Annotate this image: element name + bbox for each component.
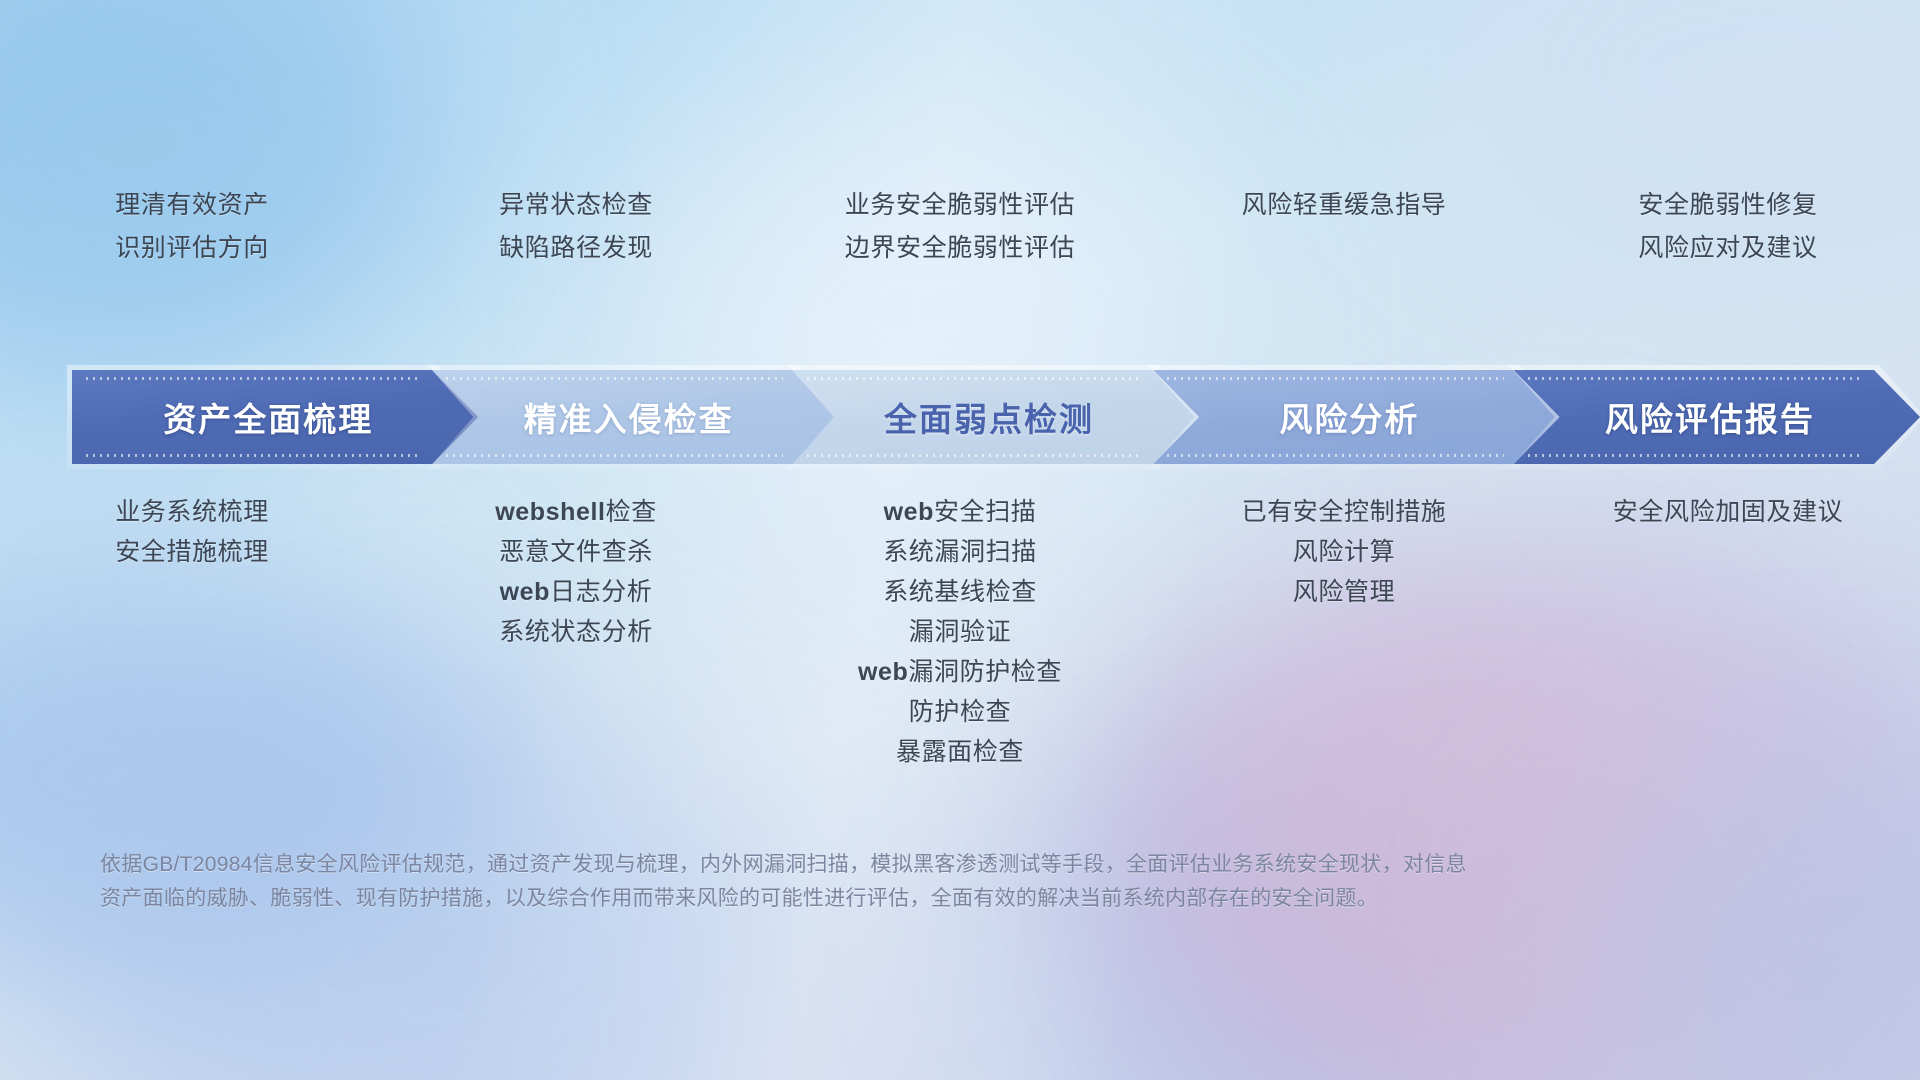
top-label: 异常状态检查 <box>384 184 768 227</box>
list-item: 系统基线检查 <box>768 572 1152 612</box>
stage-chevron-3[interactable]: 全面弱点检测 <box>793 370 1199 464</box>
list-item: 漏洞验证 <box>768 612 1152 652</box>
chevron-dotted-line-bottom <box>807 454 1143 457</box>
list-item-prefix: web <box>884 498 934 526</box>
footer-line-2: 资产面临的威胁、脆弱性、现有防护措施，以及综合作用而带来风险的可能性进行评估，全… <box>100 882 1800 916</box>
list-item: web日志分析 <box>384 572 768 612</box>
top-label: 风险轻重缓急指导 <box>1152 184 1536 227</box>
top-labels-row: 理清有效资产识别评估方向异常状态检查缺陷路径发现业务安全脆弱性评估边界安全脆弱性… <box>0 184 1920 270</box>
bottom-list-group: 安全风险加固及建议 <box>1536 492 1920 532</box>
chevron-dotted-line-bottom <box>1528 454 1864 457</box>
list-item: 恶意文件查杀 <box>384 532 768 572</box>
list-item: 业务系统梳理 <box>0 492 384 532</box>
list-item-prefix: web <box>858 658 908 686</box>
list-item-prefix: web <box>500 578 550 606</box>
list-item: webshell检查 <box>384 492 768 532</box>
top-label: 理清有效资产 <box>0 184 384 227</box>
footer-description: 依据GB/T20984信息安全风险评估规范，通过资产发现与梳理，内外网漏洞扫描，… <box>100 848 1800 916</box>
top-label-group: 理清有效资产识别评估方向 <box>0 184 384 270</box>
list-item: 系统状态分析 <box>384 612 768 652</box>
chevron-dotted-line-top <box>807 377 1143 380</box>
footer-line-1: 依据GB/T20984信息安全风险评估规范，通过资产发现与梳理，内外网漏洞扫描，… <box>100 848 1800 882</box>
bottom-lists-row: 业务系统梳理安全措施梳理webshell检查恶意文件查杀web日志分析系统状态分… <box>0 492 1920 772</box>
stage-chevron-2[interactable]: 精准入侵检查 <box>432 370 838 464</box>
bottom-list-group: 已有安全控制措施风险计算风险管理 <box>1152 492 1536 612</box>
process-diagram: 理清有效资产识别评估方向异常状态检查缺陷路径发现业务安全脆弱性评估边界安全脆弱性… <box>0 0 1920 1080</box>
list-item-text: 安全扫描 <box>934 498 1036 526</box>
chevron-dotted-line-bottom <box>446 454 782 457</box>
stage-chevron-1[interactable]: 资产全面梳理 <box>72 370 478 464</box>
top-label-group: 异常状态检查缺陷路径发现 <box>384 184 768 270</box>
stage-label: 风险分析 <box>1279 393 1419 441</box>
chevron-dotted-line-top <box>446 377 782 380</box>
stage-label: 资产全面梳理 <box>163 393 373 441</box>
top-label: 安全脆弱性修复 <box>1536 184 1920 227</box>
list-item: 已有安全控制措施 <box>1152 492 1536 532</box>
chevron-dotted-line-top <box>1528 377 1864 380</box>
chevron-dotted-line-bottom <box>86 454 422 457</box>
top-label-group: 安全脆弱性修复风险应对及建议 <box>1536 184 1920 270</box>
bottom-list-group: 业务系统梳理安全措施梳理 <box>0 492 384 572</box>
list-item: 安全风险加固及建议 <box>1536 492 1920 532</box>
stage-chevron-band: 资产全面梳理精准入侵检查全面弱点检测风险分析风险评估报告 <box>72 370 1920 464</box>
chevron-dotted-line-top <box>86 377 422 380</box>
list-item-text: 日志分析 <box>550 578 652 606</box>
list-item: web安全扫描 <box>768 492 1152 532</box>
list-item: web漏洞防护检查 <box>768 652 1152 692</box>
bottom-list-group: web安全扫描系统漏洞扫描系统基线检查漏洞验证web漏洞防护检查防护检查暴露面检… <box>768 492 1152 772</box>
top-label: 识别评估方向 <box>0 227 384 270</box>
bottom-list-group: webshell检查恶意文件查杀web日志分析系统状态分析 <box>384 492 768 652</box>
list-item-prefix: webshell <box>495 498 605 526</box>
stage-chevron-4[interactable]: 风险分析 <box>1153 370 1559 464</box>
top-label-group: 风险轻重缓急指导 <box>1152 184 1536 270</box>
top-label: 边界安全脆弱性评估 <box>768 227 1152 270</box>
chevron-dotted-line-top <box>1167 377 1503 380</box>
top-label: 业务安全脆弱性评估 <box>768 184 1152 227</box>
stage-label: 风险评估报告 <box>1605 393 1815 441</box>
list-item: 风险计算 <box>1152 532 1536 572</box>
list-item-text: 漏洞防护检查 <box>908 658 1062 686</box>
top-label: 缺陷路径发现 <box>384 227 768 270</box>
list-item: 风险管理 <box>1152 572 1536 612</box>
stage-label: 全面弱点检测 <box>884 393 1094 441</box>
chevron-dotted-line-bottom <box>1167 454 1503 457</box>
list-item: 暴露面检查 <box>768 732 1152 772</box>
list-item: 安全措施梳理 <box>0 532 384 572</box>
top-label: 风险应对及建议 <box>1536 227 1920 270</box>
list-item: 系统漏洞扫描 <box>768 532 1152 572</box>
list-item: 防护检查 <box>768 692 1152 732</box>
top-label-group: 业务安全脆弱性评估边界安全脆弱性评估 <box>768 184 1152 270</box>
stage-label: 精准入侵检查 <box>524 393 734 441</box>
stage-chevron-5[interactable]: 风险评估报告 <box>1514 370 1920 464</box>
list-item-text: 检查 <box>606 498 657 526</box>
